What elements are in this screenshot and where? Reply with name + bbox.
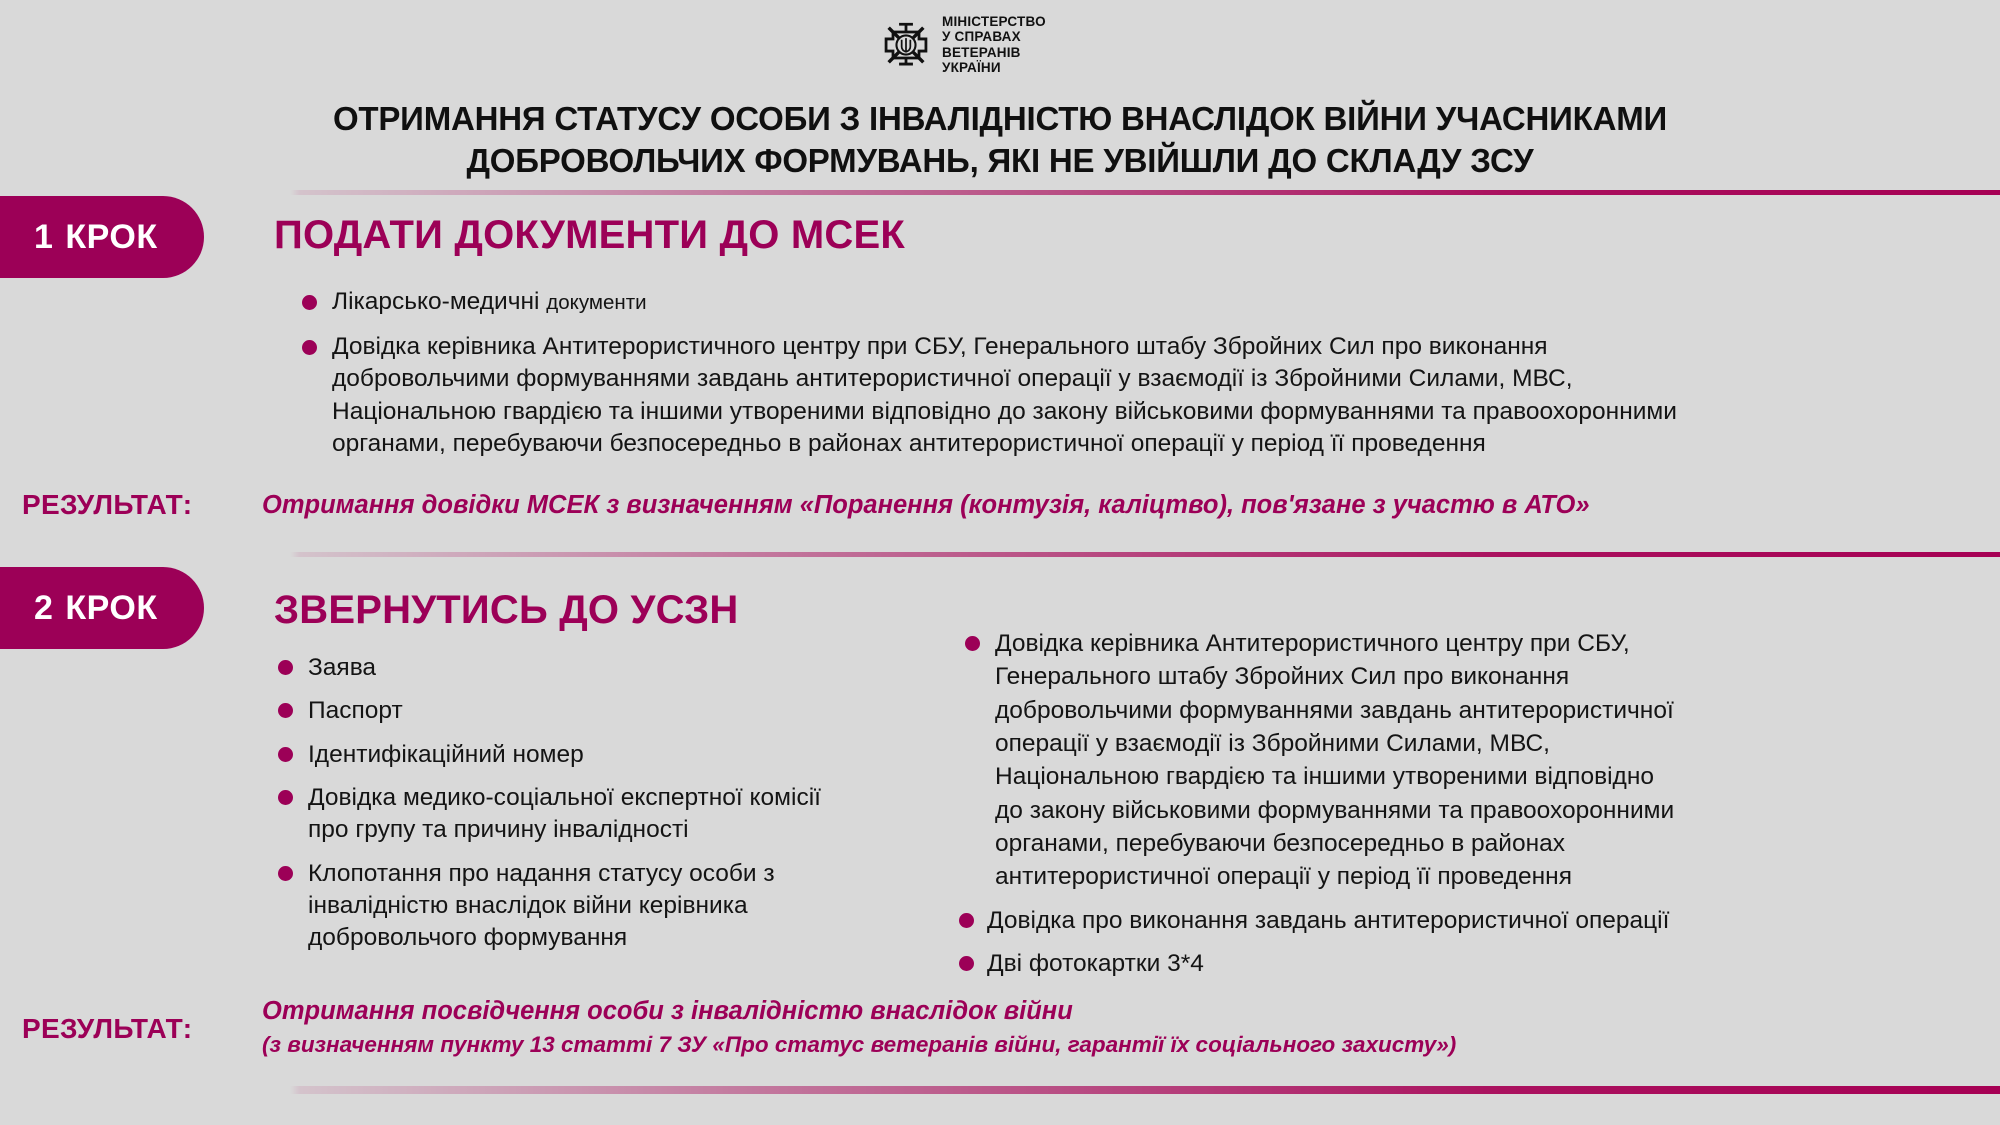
step-2-result-text: Отримання посвідчення особи з інвалідніс… <box>262 995 1982 1059</box>
step-1-word: КРОК <box>65 218 157 257</box>
step-1-result-text: Отримання довідки МСЕК з визначенням «По… <box>262 489 1982 522</box>
list-item: Довідка про виконання завдань антитерори… <box>955 904 1675 937</box>
list-item-text: Лікарсько-медичні <box>332 288 539 315</box>
step-1-document-list: Лікарсько-медичні документи Довідка кері… <box>292 286 1692 473</box>
list-item: Заява <box>268 652 868 684</box>
step-1-number: 1 <box>34 218 53 257</box>
infographic-page: МІНІСТЕРСТВО У СПРАВАХ ВЕТЕРАНІВ УКРАЇНИ… <box>0 0 2000 1125</box>
list-item: Лікарсько-медичні документи <box>292 286 1692 319</box>
step-2-number: 2 <box>34 589 53 628</box>
step-1-heading: ПОДАТИ ДОКУМЕНТИ ДО МСЕК <box>274 213 905 258</box>
list-item: Довідка медико-соціальної експертної ком… <box>268 782 868 847</box>
list-item: Паспорт <box>268 695 868 727</box>
step-2-result-line-2: (з визначенням пункту 13 статті 7 ЗУ «Пр… <box>262 1031 1982 1060</box>
step-2-result-label: РЕЗУЛЬТАТ: <box>22 1013 192 1045</box>
divider-rule-top <box>0 190 2000 195</box>
step-1-result-label: РЕЗУЛЬТАТ: <box>22 489 192 521</box>
ministry-emblem-icon <box>880 19 932 71</box>
list-item: Ідентифікаційний номер <box>268 739 868 771</box>
step-2-heading: ЗВЕРНУТИСЬ ДО УСЗН <box>274 588 739 633</box>
divider-rule-bottom <box>0 1086 2000 1094</box>
list-item: Дві фотокартки 3*4 <box>955 947 1675 980</box>
ministry-logo: МІНІСТЕРСТВО У СПРАВАХ ВЕТЕРАНІВ УКРАЇНИ <box>880 14 1046 75</box>
step-badge-2: 2 КРОК <box>0 567 204 649</box>
step-2-word: КРОК <box>65 589 157 628</box>
list-item: Клопотання про надання статусу особи з і… <box>268 858 868 955</box>
list-item-text-suffix: документи <box>546 291 646 314</box>
divider-rule-middle <box>0 552 2000 557</box>
step-badge-1: 1 КРОК <box>0 196 204 278</box>
step-2-result-line-1: Отримання посвідчення особи з інвалідніс… <box>262 997 1073 1025</box>
ministry-logo-text: МІНІСТЕРСТВО У СПРАВАХ ВЕТЕРАНІВ УКРАЇНИ <box>942 14 1046 75</box>
step-2-document-list-right: Довідка керівника Антитерористичного цен… <box>955 627 1675 990</box>
list-item: Довідка керівника Антитерористичного цен… <box>955 627 1675 894</box>
step-2-document-list-left: Заява Паспорт Ідентифікаційний номер Дов… <box>268 652 868 966</box>
list-item: Довідка керівника Антитерористичного цен… <box>292 331 1692 461</box>
page-title: ОТРИМАННЯ СТАТУСУ ОСОБИ З ІНВАЛІДНІСТЮ В… <box>200 98 1800 182</box>
